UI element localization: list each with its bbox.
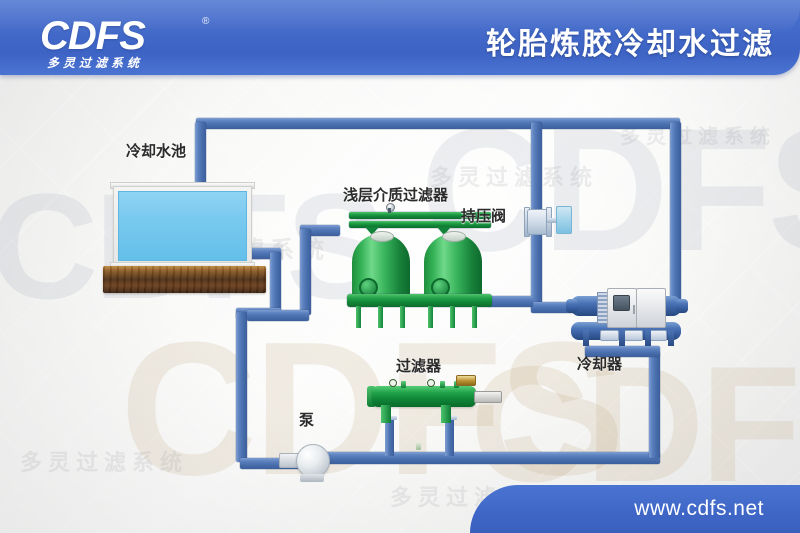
label-pump: 泵: [299, 409, 314, 430]
cooler-head-right: [676, 299, 688, 313]
footer-website-url[interactable]: www.cdfs.net: [634, 497, 764, 521]
pipe-bottom-header: [322, 452, 660, 464]
cooler-head-left: [566, 299, 578, 313]
registered-trademark-icon: ®: [202, 16, 209, 27]
tank-leg: [378, 306, 383, 328]
pressure-gauge-inlet-icon: [389, 379, 397, 387]
watermark-chinese: 多灵过滤系统: [20, 445, 188, 477]
manifold-bottom: [347, 294, 492, 307]
brand-logo[interactable]: CDFS ® 多灵过滤系统: [40, 14, 220, 66]
pipe-sandfilter-discharge: [487, 296, 533, 307]
tank-manway-1: [370, 231, 394, 242]
tank-leg: [400, 306, 405, 328]
tank-leg: [450, 306, 455, 328]
pool-wood-base: [103, 266, 266, 293]
pipe-left-main-vertical: [236, 312, 247, 462]
label-filter: 过滤器: [396, 355, 441, 376]
filter-tap-left: [401, 381, 406, 388]
tank-manway-2: [442, 231, 466, 242]
pipe-filter-outlet-leg: [445, 418, 454, 456]
pipe-sandfilter-feed-branch: [247, 310, 309, 321]
valve-actuator[interactable]: [556, 206, 572, 234]
tank-leg: [472, 306, 477, 328]
pipe-sandfilter-feed-riser: [300, 229, 311, 315]
pipe-bottom-right-riser: [649, 352, 660, 458]
logo-subtitle: 多灵过滤系统: [47, 54, 143, 71]
filter-tap-right: [440, 381, 445, 388]
label-cooling-pool: 冷却水池: [126, 140, 186, 161]
pressure-gauge-outlet-icon: [427, 379, 435, 387]
filter-brass-fitting: [456, 375, 476, 386]
pipe-pool-downcomer: [270, 252, 281, 314]
diagram-canvas: CDFS CDFS CDFS CDFS 多灵过滤系统 多灵过滤系统 多灵过滤系统…: [0, 0, 800, 533]
label-pressure-valve: 持压阀: [461, 205, 506, 226]
vent-stem: [388, 208, 391, 213]
label-cooler: 冷却器: [577, 353, 622, 374]
pipe-pool-riser: [195, 122, 206, 188]
tank-leg: [428, 306, 433, 328]
cooler-control-cabinet-right[interactable]: [636, 288, 666, 328]
filter-support-left: [381, 405, 391, 423]
pipe-valve-riser-upper: [531, 122, 542, 214]
pump-base: [300, 474, 324, 482]
filter-support-right: [441, 405, 451, 423]
pipe-filter-inlet-leg: [385, 418, 394, 456]
cooler-foot: [668, 330, 674, 346]
logo-wordmark: CDFS: [40, 14, 145, 59]
cooler-foot: [583, 330, 589, 346]
label-media-filter: 浅层介质过滤器: [343, 184, 448, 205]
cabinet-handle: [633, 305, 635, 314]
filter-outlet-nozzle: [474, 391, 502, 403]
cooler-base-box: [624, 330, 643, 341]
tank-leg: [356, 306, 361, 328]
cooler-base-box: [600, 330, 619, 341]
pipe-right-riser: [670, 122, 681, 302]
watermark-chinese: 多灵过滤系统: [430, 160, 598, 192]
cooler-display-screen: [613, 295, 630, 311]
filter-vessel: [372, 386, 476, 407]
cooler-foot: [619, 330, 625, 346]
cooler-foot: [645, 330, 651, 346]
page-title: 轮胎炼胶冷却水过滤: [486, 19, 774, 63]
pool-water: [118, 191, 247, 261]
pump-volute: [296, 444, 330, 478]
drain-tap: [416, 443, 421, 450]
pipe-top-header: [196, 118, 680, 129]
